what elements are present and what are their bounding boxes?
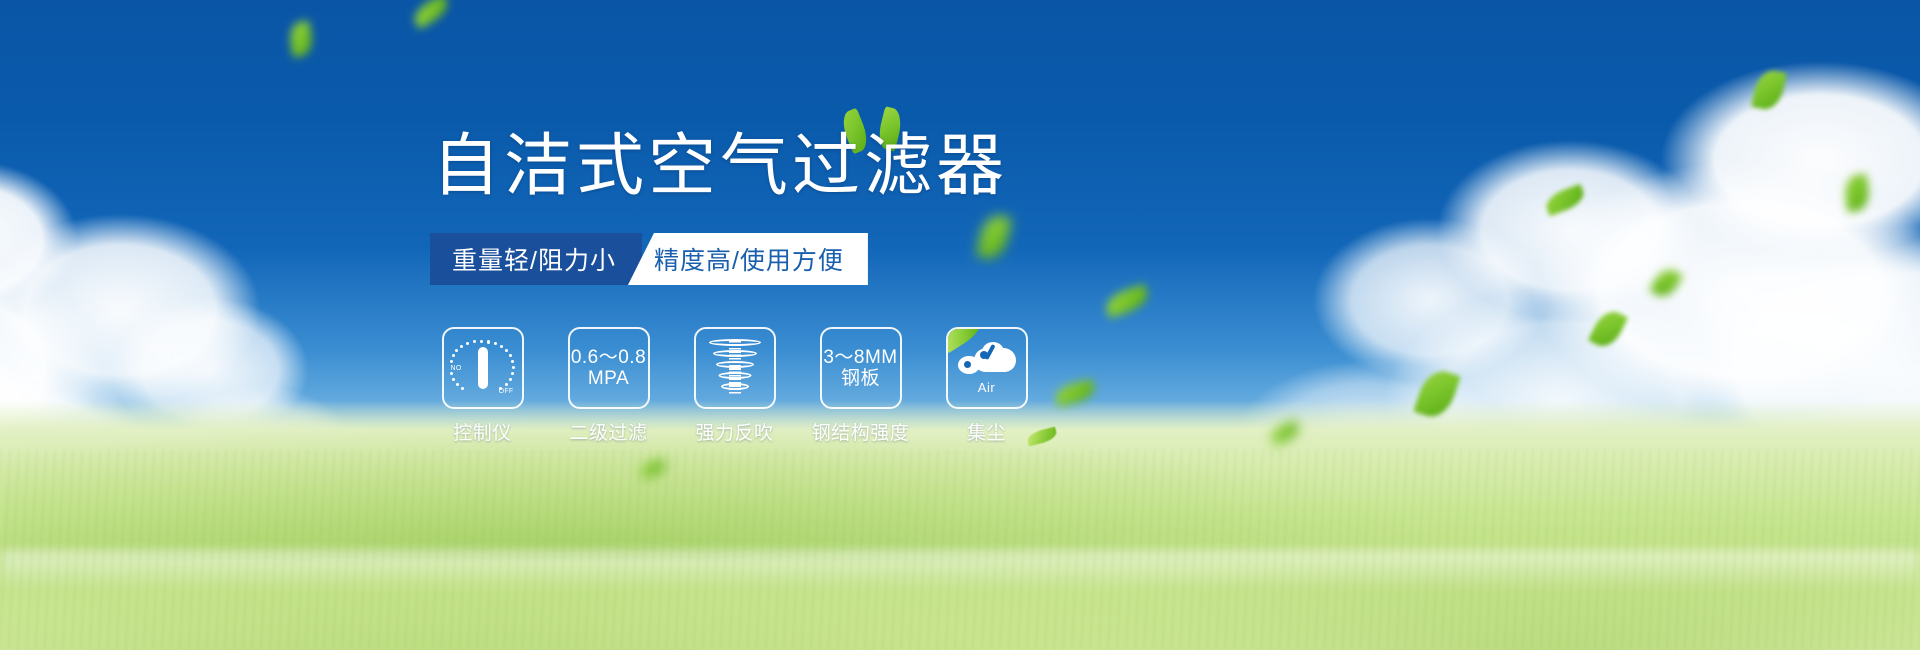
steel-value-line1: 3～8MM [823, 347, 897, 368]
subtitle-tab-2[interactable]: 精度高/使用方便 [628, 233, 868, 285]
feature-icon-box: 3～8MM 钢板 [820, 327, 902, 409]
pressure-value-line1: 0.6～0.8 [571, 347, 646, 368]
dial-label-no: NO [451, 365, 462, 372]
feature-caption: 二级过滤 [569, 418, 647, 445]
subtitle-tabs: 重量轻/阻力小 精度高/使用方便 [430, 233, 868, 285]
hero-banner: 自洁式空气过滤器 重量轻/阻力小 精度高/使用方便 [0, 0, 1920, 650]
feature-icon-box [694, 327, 776, 409]
air-label: Air [956, 380, 1018, 395]
feature-icon-box: NO OFF [442, 327, 524, 409]
feature-item-dust[interactable]: Air 集尘 [934, 327, 1039, 445]
feature-item-controller[interactable]: NO OFF 控制仪 [430, 327, 535, 445]
page-title: 自洁式空气过滤器 [432, 132, 1008, 200]
banner-content: 自洁式空气过滤器 重量轻/阻力小 精度高/使用方便 [0, 0, 1920, 650]
feature-icon-box: Air [946, 327, 1028, 409]
feature-caption: 强力反吹 [695, 418, 773, 445]
air-cloud-icon: Air [956, 342, 1018, 394]
feature-icon-box: 0.6～0.8 MPA [568, 327, 650, 409]
feature-caption: 控制仪 [453, 418, 512, 445]
dial-knob [478, 347, 488, 389]
leaf-icon [1026, 427, 1058, 447]
steel-value-line2: 钢板 [841, 368, 880, 389]
feature-item-steel[interactable]: 3～8MM 钢板 钢结构强度 [808, 327, 913, 445]
pressure-value-line2: MPA [588, 368, 629, 389]
dial-gauge-icon: NO OFF [451, 338, 515, 398]
feature-caption: 钢结构强度 [812, 418, 910, 445]
feature-item-filtration[interactable]: 0.6～0.8 MPA 二级过滤 [556, 327, 661, 445]
feature-list: NO OFF 控制仪 0.6～0.8 MPA 二级过滤 [430, 327, 1039, 445]
feature-item-backblow[interactable]: 强力反吹 [682, 327, 787, 445]
feature-caption: 集尘 [967, 418, 1006, 445]
subtitle-tab-1[interactable]: 重量轻/阻力小 [430, 233, 642, 285]
backblow-rings-icon [707, 337, 763, 399]
dial-label-off: OFF [499, 388, 514, 395]
